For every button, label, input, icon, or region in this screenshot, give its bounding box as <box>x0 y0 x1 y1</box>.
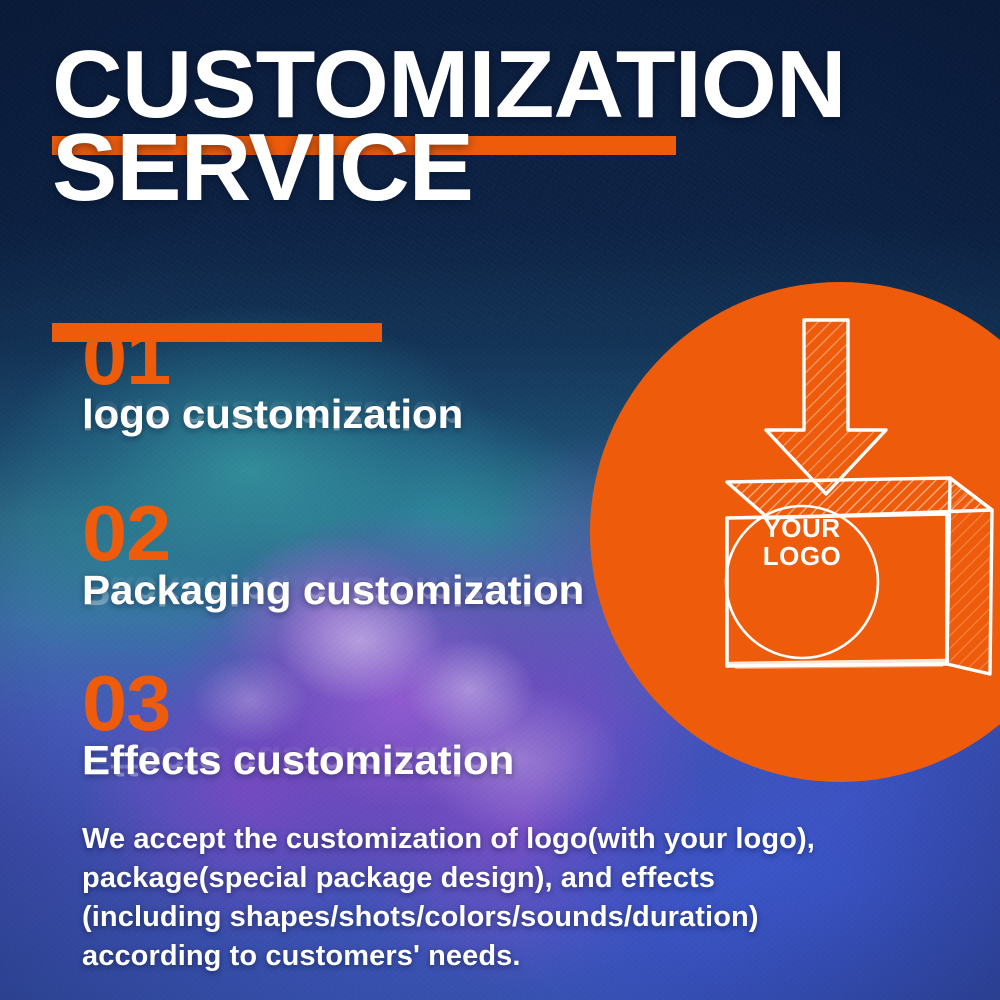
service-item-03: 03 Effects customization Effects customi… <box>82 672 502 781</box>
service-label-reflection-03: Effects customization <box>82 740 514 781</box>
service-item-01: 01 logo customization logo customization <box>82 326 452 435</box>
title-line-2: SERVICE <box>52 127 846 210</box>
title-line-2-row: SERVICE <box>52 127 830 210</box>
logo-text-line-2: LOGO <box>742 542 862 570</box>
your-logo-placeholder-text: YOUR LOGO <box>742 514 862 570</box>
service-label-reflection-02: Packaging customization <box>82 570 584 611</box>
service-number-03: 03 <box>82 672 518 734</box>
page-title: CUSTOMIZATION SERVICE <box>52 44 830 209</box>
customization-service-banner: CUSTOMIZATION SERVICE 01 logo customizat… <box>0 0 1000 1000</box>
package-illustration: YOUR LOGO <box>590 282 1000 782</box>
service-label-reflection-01: logo customization <box>82 394 463 435</box>
logo-text-line-1: YOUR <box>742 514 862 542</box>
box-side-face <box>947 478 992 674</box>
description-paragraph: We accept the customization of logo(with… <box>82 820 852 975</box>
service-label-wrap-02: Packaging customization Packaging custom… <box>82 570 570 611</box>
service-number-02: 02 <box>82 502 589 564</box>
title-underline-bar-2 <box>52 323 382 342</box>
service-label-wrap-03: Effects customization Effects customizat… <box>82 740 502 781</box>
down-arrow-icon <box>766 320 886 494</box>
service-label-wrap-01: logo customization logo customization <box>82 394 452 435</box>
service-item-02: 02 Packaging customization Packaging cus… <box>82 502 570 611</box>
